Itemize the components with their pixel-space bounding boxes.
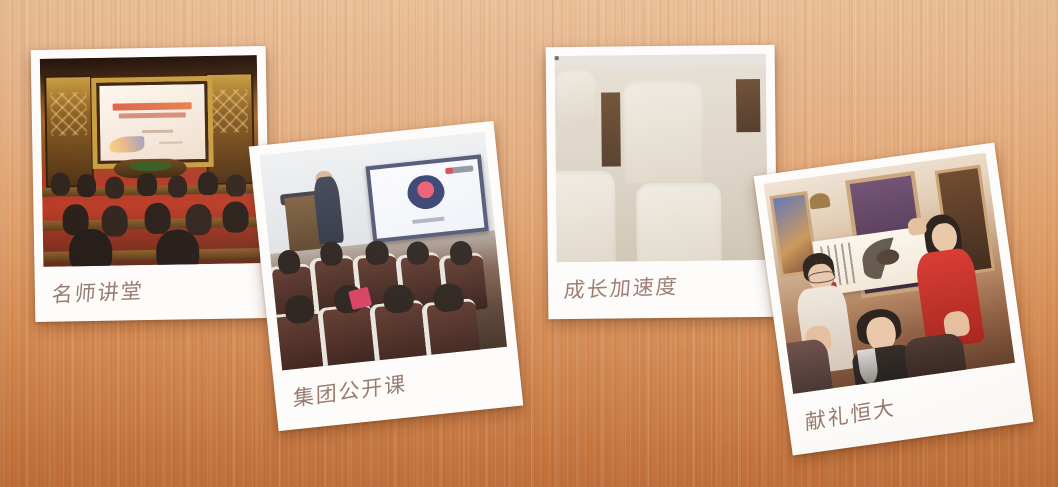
office-chair (555, 68, 598, 126)
foreground-attendee (903, 332, 968, 394)
audience-member (168, 175, 188, 198)
audience-member (198, 172, 218, 195)
photo-wall-stage: 名师讲堂 (0, 0, 1058, 487)
background-wood-panel (601, 93, 621, 167)
hall-pillar-left (44, 75, 93, 188)
training-room-scene (260, 132, 507, 370)
screen-headline (112, 102, 191, 110)
photo-1-caption: 名师讲堂 (51, 275, 145, 309)
office-chair (622, 79, 703, 183)
audience-member (137, 173, 157, 196)
polaroid-photo-4[interactable]: 献礼恒大 (754, 142, 1034, 455)
audience-member (50, 173, 70, 196)
photo-4-caption: 献礼恒大 (804, 391, 896, 436)
screen-portrait-graphic (405, 173, 446, 215)
screen-brand-logo (445, 165, 474, 174)
person-right-glasses (555, 56, 559, 60)
screen-caption-bar (412, 217, 445, 225)
office-chair (636, 182, 721, 262)
lattice-pattern-right (211, 89, 248, 133)
screen-subhead (119, 113, 186, 119)
background-wood-panel (736, 79, 760, 133)
audience-member (222, 201, 249, 233)
hall-pillar-right (205, 72, 254, 185)
team-meeting-scene (555, 54, 768, 262)
screen-graphic (109, 136, 145, 153)
screen-body-line (142, 129, 173, 133)
polaroid-photo-1[interactable]: 名师讲堂 (31, 46, 271, 322)
photo-3-image (555, 54, 768, 262)
polaroid-photo-2[interactable]: 集团公开课 (249, 121, 524, 431)
scroll-eagle-painting (860, 235, 921, 281)
projector-screen (97, 81, 209, 164)
audience-member (105, 176, 125, 199)
audience-member (77, 174, 97, 197)
audience-member (226, 174, 246, 197)
screen-footer-line (159, 141, 182, 144)
audience-member (186, 204, 213, 236)
lecture-hall-scene (40, 55, 261, 267)
attendee-head (432, 282, 464, 313)
celebration-scene (764, 153, 1015, 394)
audience-member (101, 205, 128, 237)
photo-3-caption: 成长加速度 (563, 270, 680, 304)
attendee-head (448, 240, 473, 266)
office-chair (555, 171, 616, 262)
lattice-pattern-left (50, 92, 87, 136)
photo-2-caption: 集团公开课 (293, 368, 407, 413)
audience-member (144, 202, 171, 234)
woman-right-raised-hand (907, 217, 927, 236)
presentation-screen (365, 154, 489, 243)
photo-4-image (764, 153, 1015, 394)
attendee-head (364, 240, 389, 266)
photo-2-image (260, 132, 507, 370)
foreground-attendee (773, 338, 835, 394)
wall-sconce-lamp (808, 192, 830, 209)
polaroid-photo-3[interactable]: 成长加速度 (546, 45, 778, 319)
photo-1-image (40, 55, 261, 267)
